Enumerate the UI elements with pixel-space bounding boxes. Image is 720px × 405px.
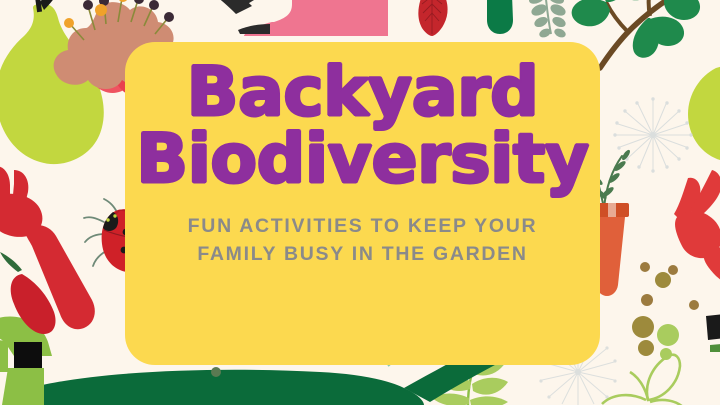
- poster-canvas: Backyard Biodiversity Fun activities to …: [0, 0, 720, 405]
- page-title: Backyard Biodiversity: [136, 60, 588, 193]
- title-card: Backyard Biodiversity Fun activities to …: [125, 42, 600, 365]
- page-subtitle: Fun activities to keep your family busy …: [163, 213, 563, 268]
- green-stem-top-icon: [487, 0, 513, 34]
